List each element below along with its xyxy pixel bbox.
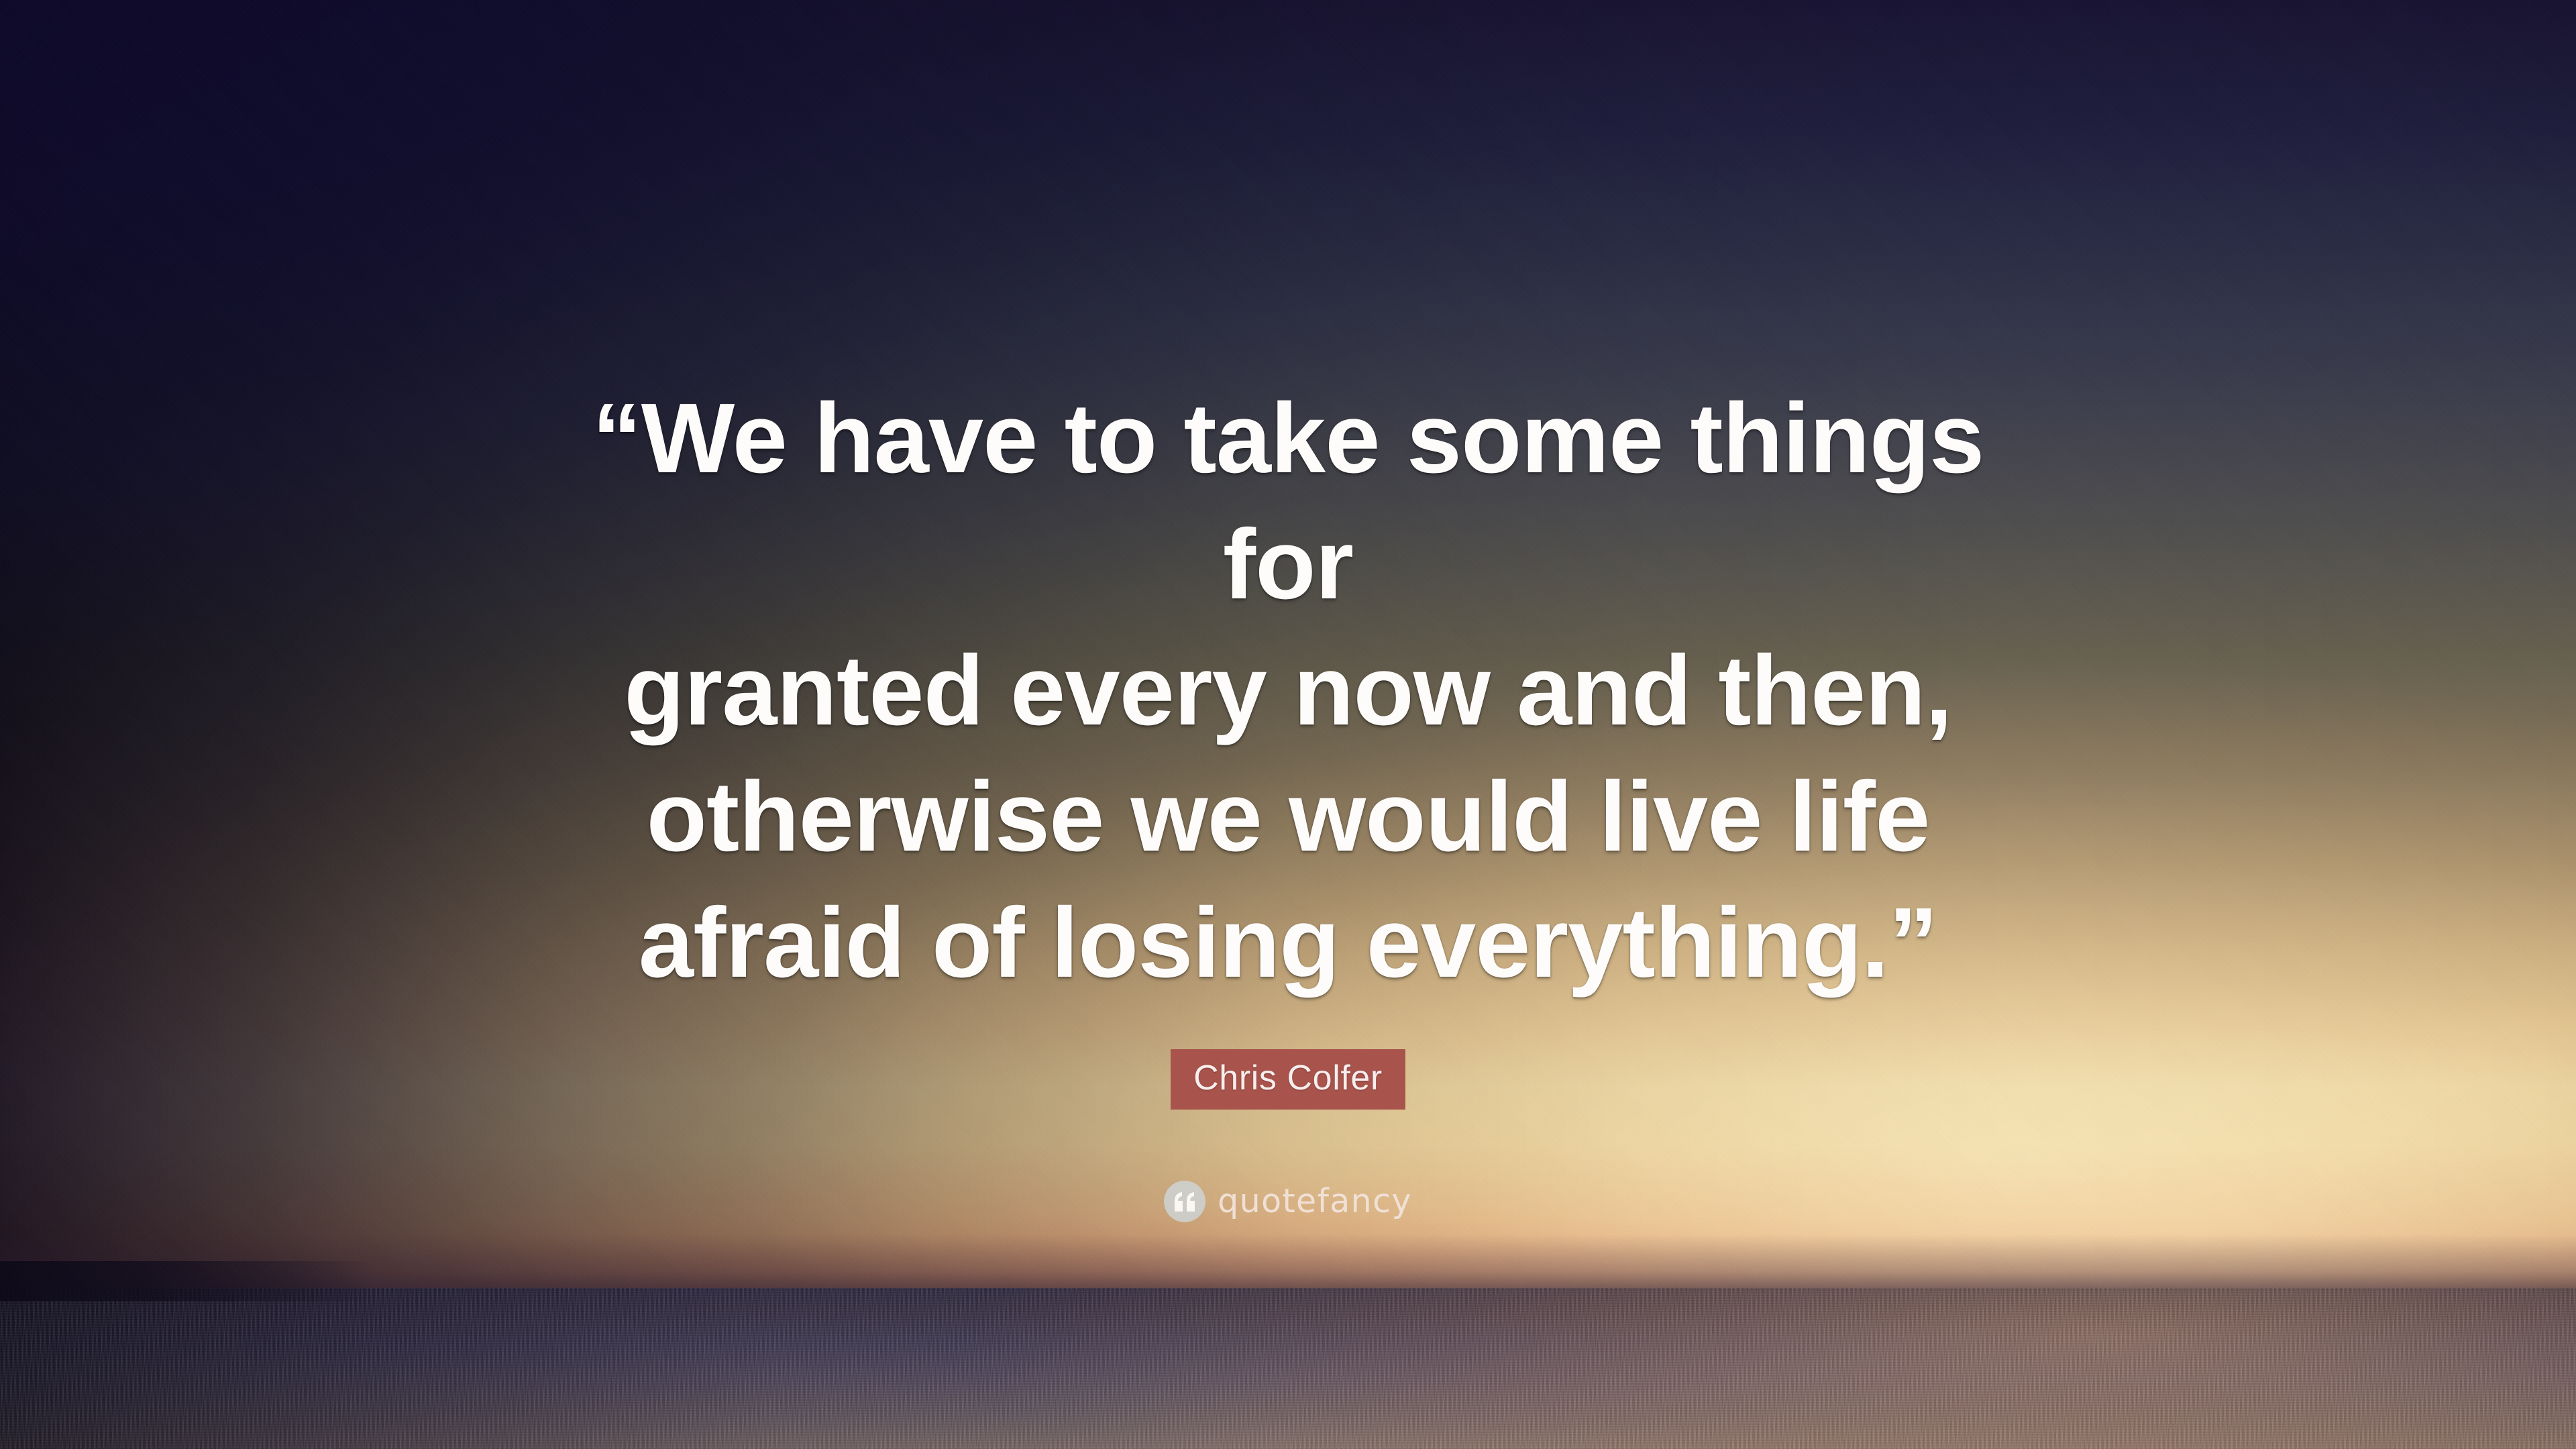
quote-mark-icon (1164, 1181, 1205, 1222)
quote-poster: “We have to take some things for granted… (0, 0, 2576, 1449)
quote-text: “We have to take some things for granted… (584, 376, 1992, 1006)
author-badge: Chris Colfer (1171, 1049, 1405, 1110)
content-stack: “We have to take some things for granted… (0, 0, 2576, 1449)
quotefancy-watermark[interactable]: quotefancy (1164, 1181, 1412, 1222)
quotefancy-brand-name: quotefancy (1218, 1185, 1412, 1218)
